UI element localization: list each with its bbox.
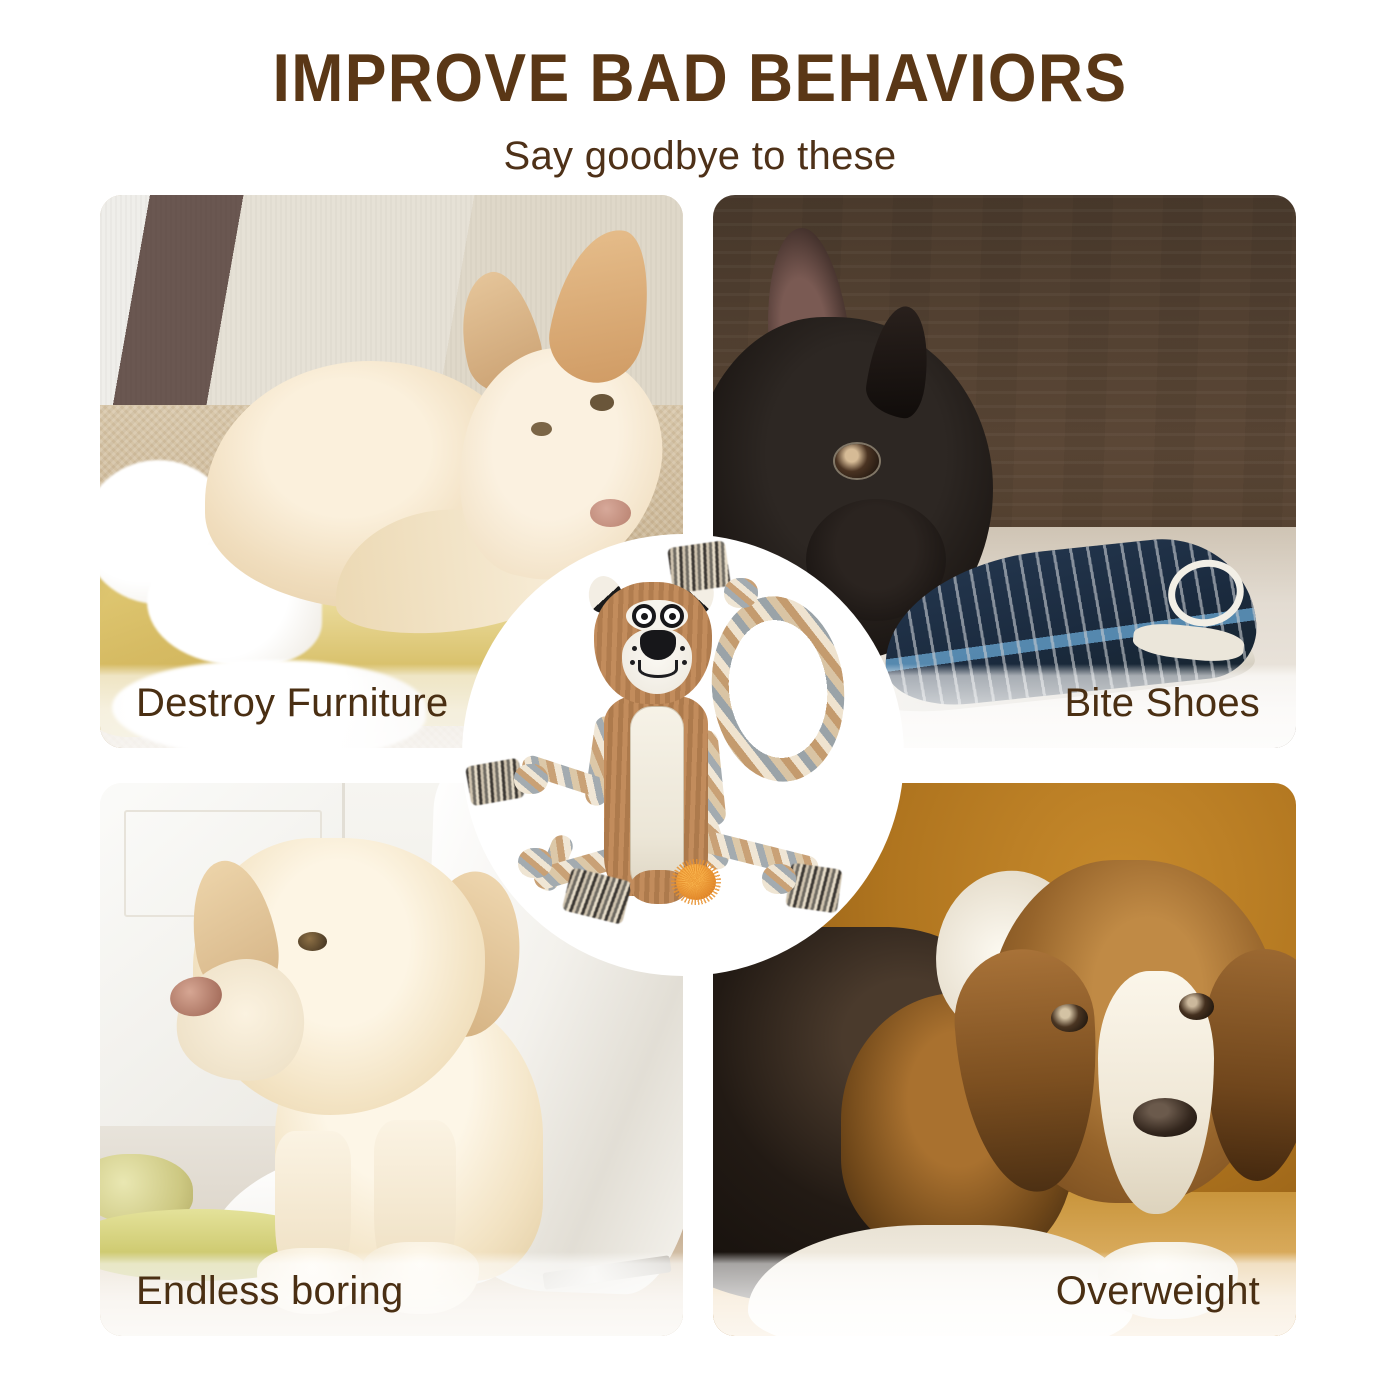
dog-eye (1051, 1004, 1088, 1032)
header: IMPROVE BAD BEHAVIORS Say goodbye to the… (0, 0, 1400, 179)
toy-whisker-spot (630, 660, 635, 665)
dog-nose (1133, 1098, 1197, 1137)
toy-whisker-spot (682, 660, 687, 665)
toy-eye-left (632, 604, 656, 628)
panel-caption: Bite Shoes (1065, 681, 1260, 726)
toy-whisker-spot (680, 646, 685, 651)
rope-knot (762, 864, 796, 894)
product-spotlight-circle (462, 534, 904, 976)
panel-caption: Overweight (1056, 1269, 1260, 1314)
dog-nose (590, 499, 631, 527)
rope-ring-handle (703, 590, 854, 789)
caption-band: Endless boring (100, 1252, 683, 1336)
toy-eye-right (660, 604, 684, 628)
toy-mouth (638, 660, 678, 678)
page-subtitle: Say goodbye to these (0, 134, 1400, 179)
toy-whisker-spot (632, 646, 637, 651)
panel-caption: Endless boring (136, 1269, 403, 1314)
rope-knot (518, 848, 552, 878)
rope-knot (514, 764, 548, 794)
toy-belly-panel (630, 706, 684, 892)
dog-toy-product-image (462, 534, 904, 976)
page-title: IMPROVE BAD BEHAVIORS (56, 44, 1344, 112)
infographic-page: IMPROVE BAD BEHAVIORS Say goodbye to the… (0, 0, 1400, 1400)
orange-spike-ball (676, 864, 716, 900)
panel-caption: Destroy Furniture (136, 681, 448, 726)
rope-knot (724, 578, 758, 608)
caption-band: Overweight (713, 1252, 1296, 1336)
dog-eye (1179, 993, 1214, 1020)
dog-eye (835, 444, 879, 478)
dog-eye (590, 394, 614, 411)
